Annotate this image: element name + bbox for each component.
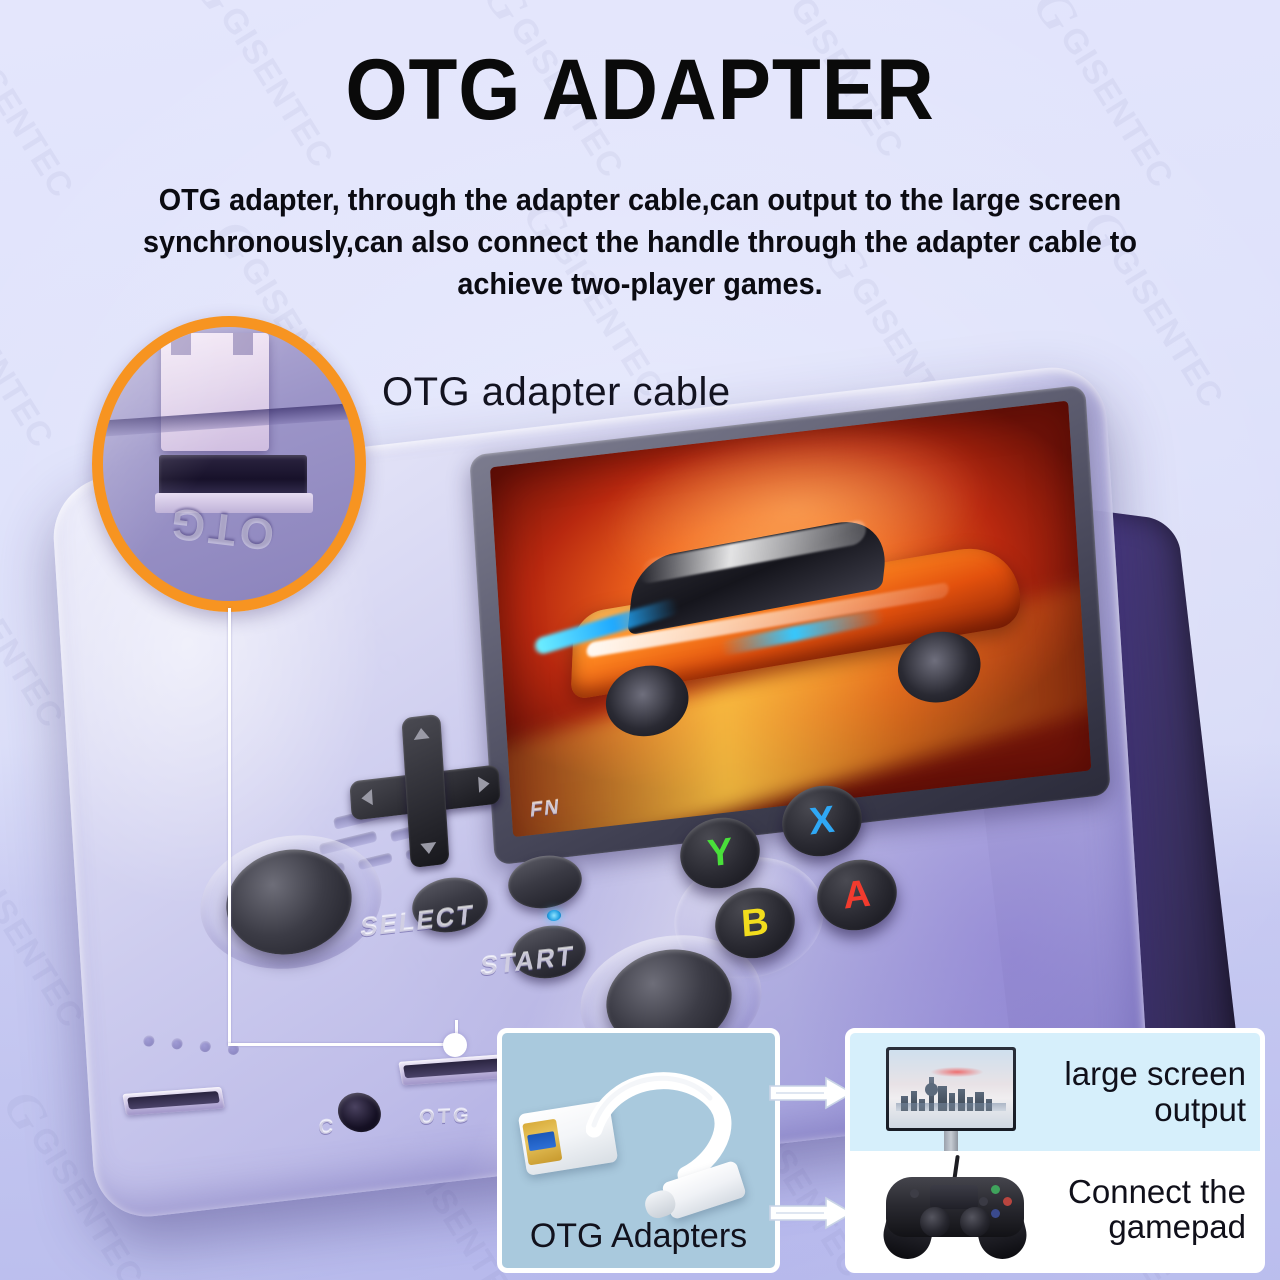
leader-line-vertical (228, 608, 231, 1045)
connect-gamepad-line2: gamepad (1040, 1209, 1246, 1245)
arrow-to-large-screen (768, 1076, 854, 1110)
usb-port (122, 1087, 225, 1116)
leader-line-endpoint-dot (443, 1033, 467, 1057)
otg-port-label: OTG (419, 1105, 473, 1130)
screw-dot (143, 1035, 155, 1047)
sunset-glow (931, 1067, 983, 1076)
gamepad-icon (880, 1159, 1030, 1263)
arrow-right-icon (768, 1076, 854, 1110)
gamepad-dpad (910, 1189, 919, 1198)
gamepad-art (850, 1151, 1040, 1269)
usb-a-contact-block (522, 1119, 562, 1166)
connect-gamepad-line1: Connect the (1040, 1174, 1246, 1210)
device-screen-bezel (469, 384, 1111, 865)
arrow-to-gamepad (768, 1196, 854, 1230)
large-screen-output-row: large screen output (850, 1033, 1260, 1151)
screw-dot (199, 1040, 211, 1052)
large-screen-output-line2: output (1040, 1092, 1246, 1128)
monitor-icon (886, 1047, 1016, 1131)
headphone-jack (335, 1091, 384, 1133)
dpad-up-arrow-icon (413, 727, 430, 740)
dpad-left-arrow-icon (360, 789, 372, 806)
city-skyline (896, 1077, 1005, 1111)
connect-gamepad-row: Connect the gamepad (850, 1151, 1260, 1269)
large-screen-output-line1: large screen (1040, 1056, 1246, 1092)
leader-line-horizontal (228, 1043, 458, 1046)
fn-label: FN (529, 796, 562, 823)
gamepad-left-stick (920, 1207, 950, 1237)
connect-gamepad-label: Connect the gamepad (1040, 1174, 1260, 1245)
monitor-frame (886, 1047, 1016, 1131)
page-title: OTG ADAPTER (45, 46, 1235, 135)
otg-port-zoom-callout: OTG (92, 316, 366, 612)
dpad-down-arrow-icon (420, 842, 437, 855)
otg-usb-port (398, 1054, 507, 1085)
page-description: OTG adapter, through the adapter cable,c… (116, 180, 1163, 305)
otg-adapter-panel: OTG Adapters (497, 1028, 780, 1273)
otg-adapter-panel-label: OTG Adapters (502, 1217, 775, 1256)
monitor-screen (889, 1050, 1013, 1128)
screw-dot (171, 1038, 183, 1050)
dpad[interactable] (346, 707, 504, 874)
monitor-art (850, 1033, 1040, 1151)
gamepad-face-button (991, 1209, 1000, 1218)
game-screen (490, 401, 1091, 838)
gamepad-right-stick (960, 1207, 990, 1237)
otg-usb-port-cavity (403, 1058, 502, 1078)
gamepad-face-button (979, 1197, 988, 1206)
large-screen-output-label: large screen output (1040, 1056, 1260, 1127)
port-label-c: C (318, 1116, 335, 1140)
water-reflection (896, 1103, 1005, 1111)
gamepad-face-button (991, 1185, 1000, 1194)
dpad-right-arrow-icon (478, 776, 490, 793)
otg-adapter-illustration (502, 1039, 775, 1207)
output-options-panel: large screen output Connect the g (845, 1028, 1265, 1273)
gamepad-touchpad (930, 1185, 978, 1209)
usb-port-cavity (127, 1091, 220, 1109)
gamepad-face-button (1003, 1197, 1012, 1206)
callout-label: OTG adapter cable (382, 370, 731, 415)
callout-glass-shine (103, 327, 355, 601)
arrow-right-icon (768, 1196, 854, 1230)
